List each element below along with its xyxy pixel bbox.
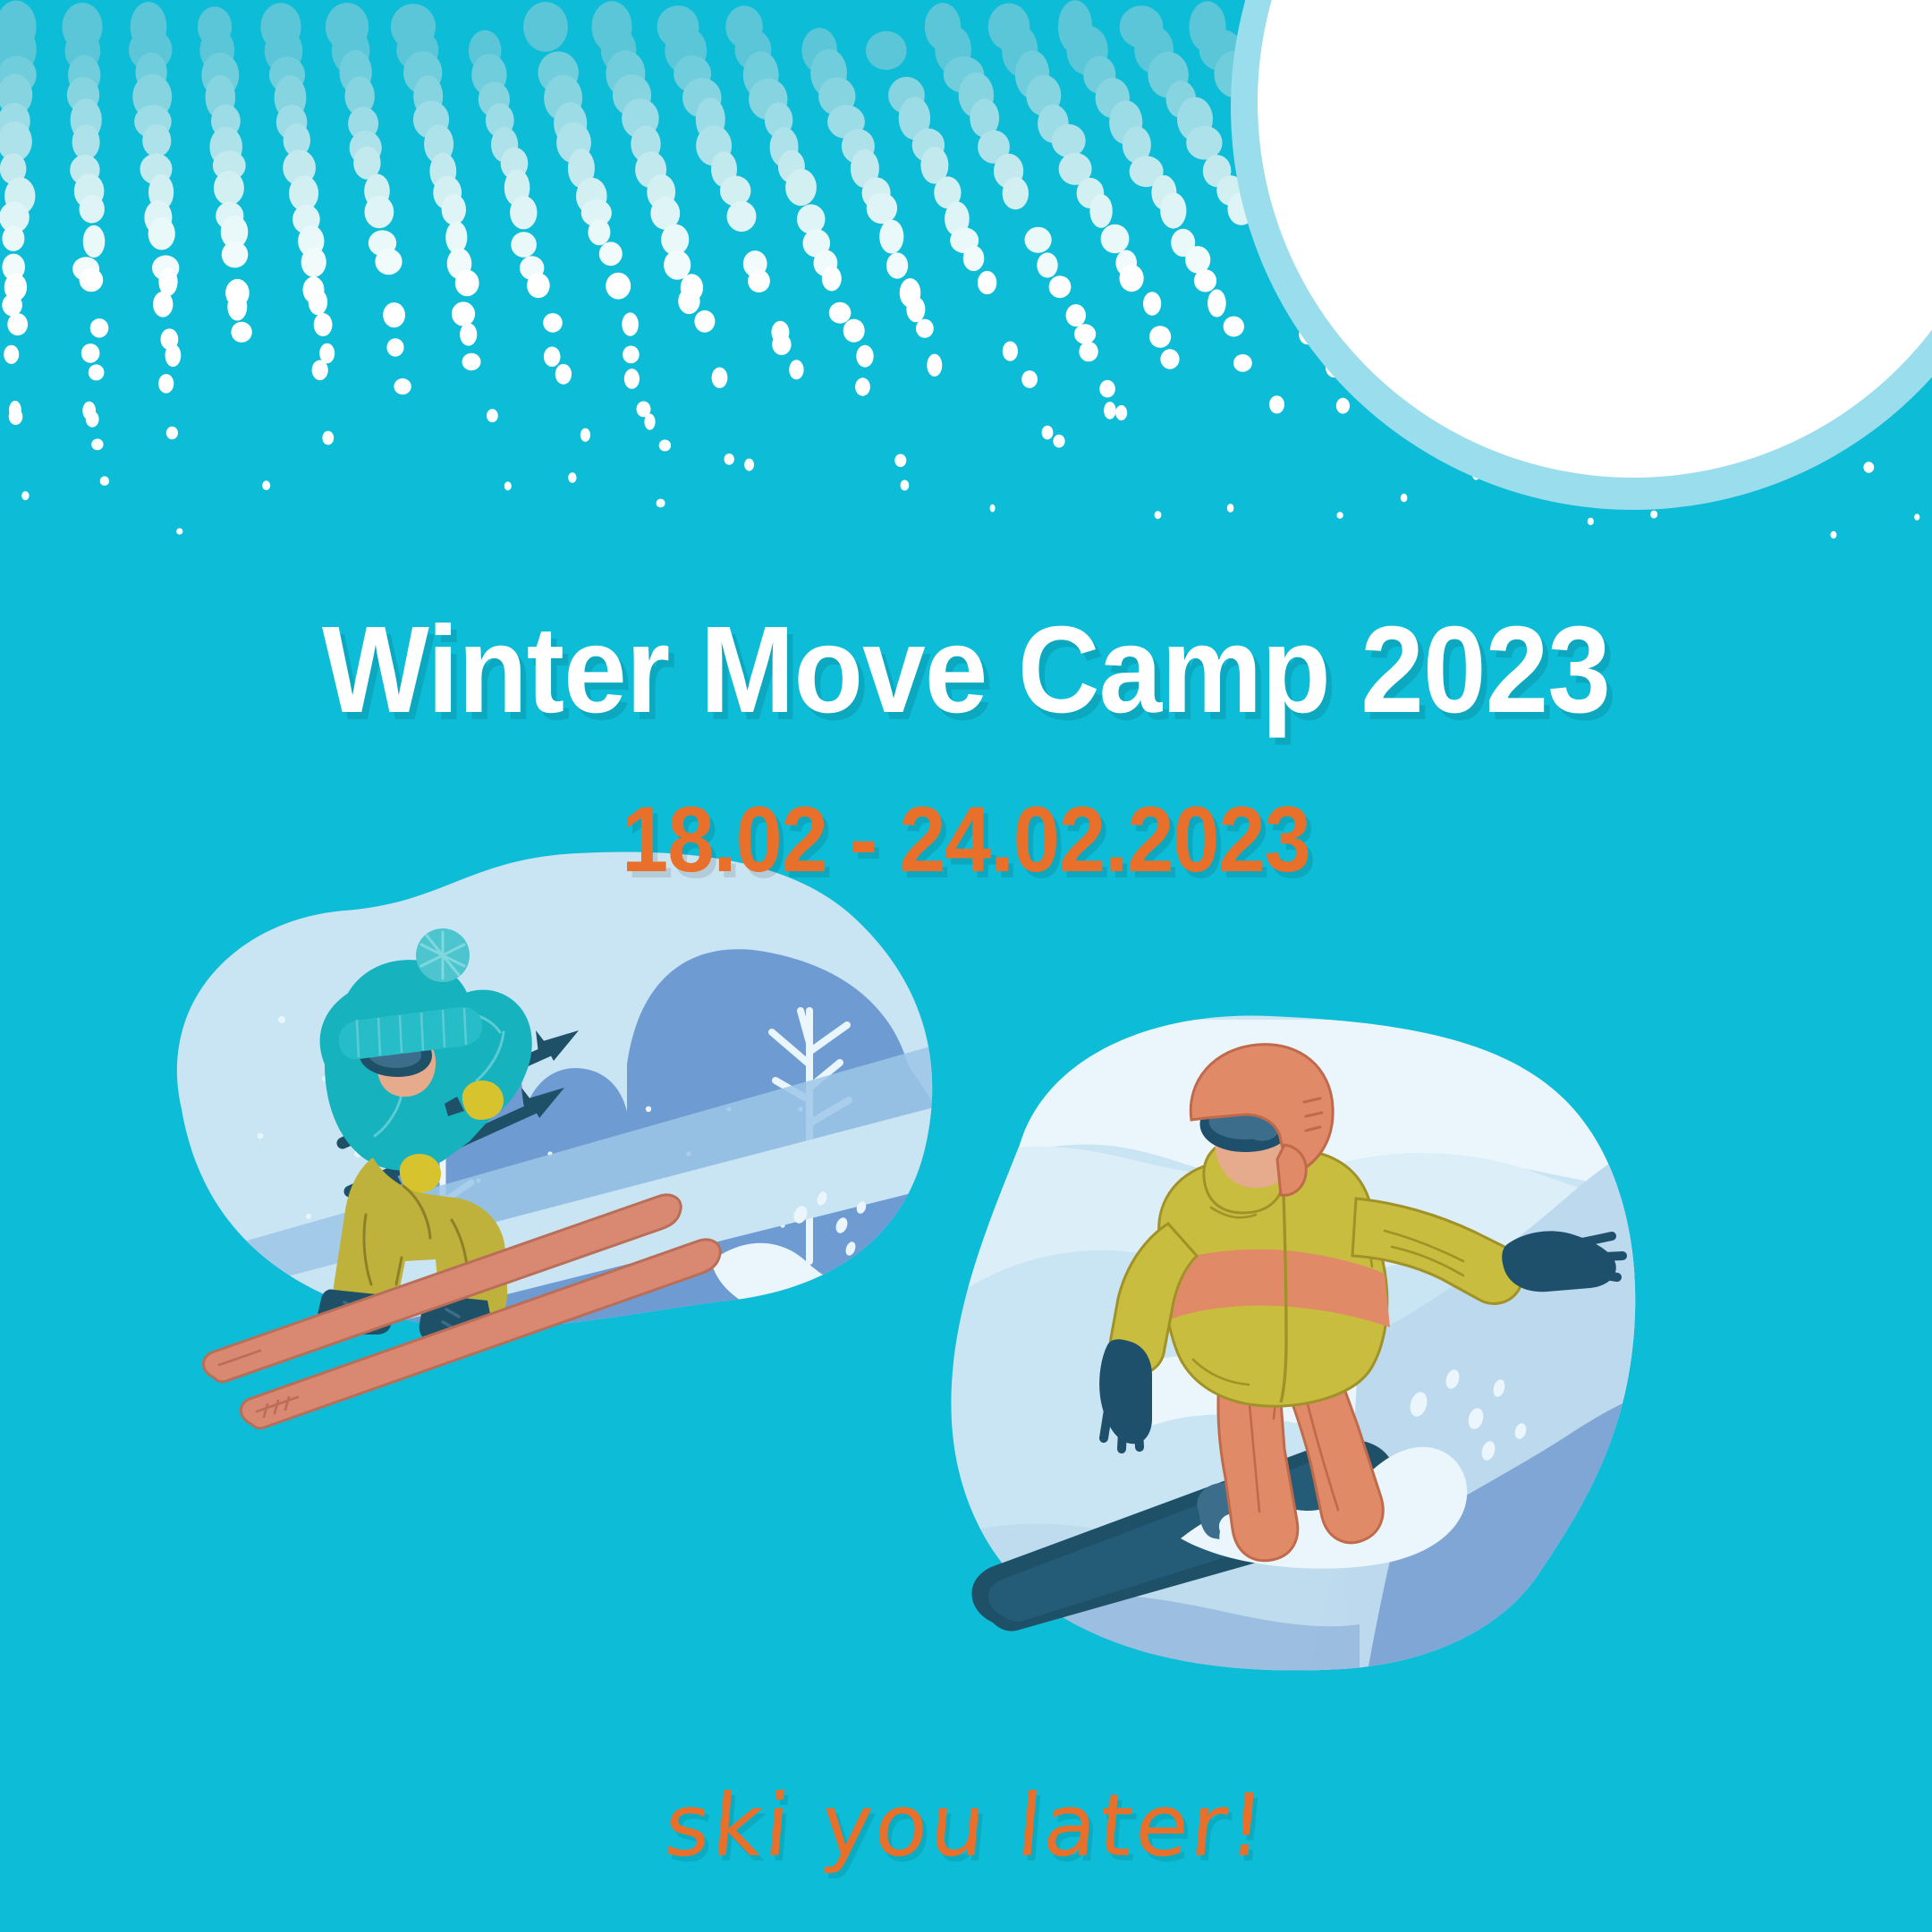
snowboarder-illustration: [859, 984, 1664, 1771]
date-range: 18.02 - 24.02.2023: [97, 787, 1835, 894]
tagline: ski you later!: [0, 1775, 1932, 1876]
logo-block-word: CAMP: [1404, 0, 1862, 9]
poster-canvas: move CAMP Winter Move Camp 2023: [0, 0, 1932, 1932]
page-title: Winter Move Camp 2023: [77, 599, 1854, 741]
move-camp-logo[interactable]: move CAMP: [1231, 0, 1932, 510]
